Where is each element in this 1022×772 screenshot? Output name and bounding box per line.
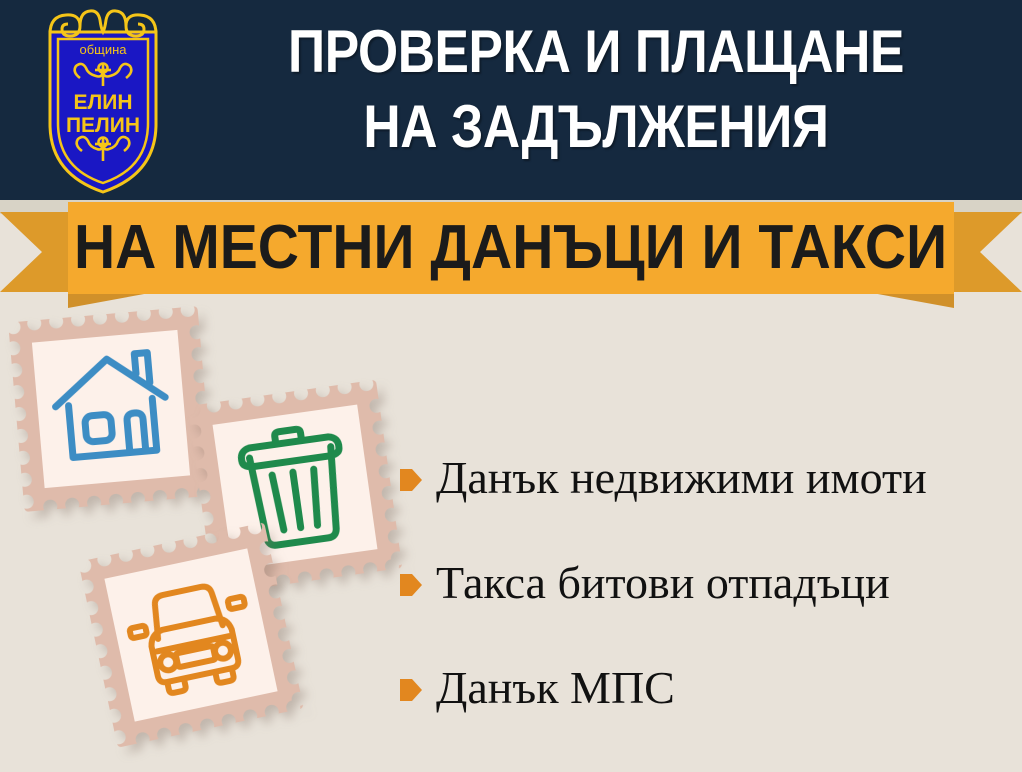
arrow-bullet-icon [400,572,422,598]
arrow-bullet-icon [400,677,422,703]
poster-root: община ЕЛИН ПЕЛИН ПРОВЕРКА И ПЛАЩАНЕ НА … [0,0,1022,772]
arrow-bullet-icon [400,467,422,493]
poster-title-line-1: ПРОВЕРКА И ПЛАЩАНЕ [243,14,948,89]
crest-name-line-2: ПЕЛИН [66,114,140,137]
list-item-label: Данък недвижими имоти [436,453,927,503]
list-item: Данък МПС [400,635,1010,740]
crest-top-label: община [79,42,127,57]
subtitle-ribbon: НА МЕСТНИ ДАНЪЦИ И ТАКСИ [0,200,1022,310]
list-item: Данък недвижими имоти [400,425,1010,530]
list-item-label: Такса битови отпадъци [436,558,890,608]
ribbon-label: НА МЕСТНИ ДАНЪЦИ И ТАКСИ [74,217,947,279]
ribbon-body: НА МЕСТНИ ДАНЪЦИ И ТАКСИ [68,202,954,294]
stamp-collage [0,300,420,772]
stamp-card-house [8,306,214,512]
crest-name-line-1: ЕЛИН [73,91,132,114]
tax-type-list: Данък недвижими имоти Такса битови отпад… [400,425,1010,740]
list-item-label: Данък МПС [436,663,675,713]
poster-title-line-2: НА ЗАДЪЛЖЕНИЯ [243,89,948,164]
municipality-crest-logo: община ЕЛИН ПЕЛИН [28,6,178,196]
stamp-card-car [78,522,303,747]
poster-title: ПРОВЕРКА И ПЛАЩАНЕ НА ЗАДЪЛЖЕНИЯ [186,14,1006,164]
header-banner: община ЕЛИН ПЕЛИН ПРОВЕРКА И ПЛАЩАНЕ НА … [0,0,1022,200]
list-item: Такса битови отпадъци [400,530,1010,635]
